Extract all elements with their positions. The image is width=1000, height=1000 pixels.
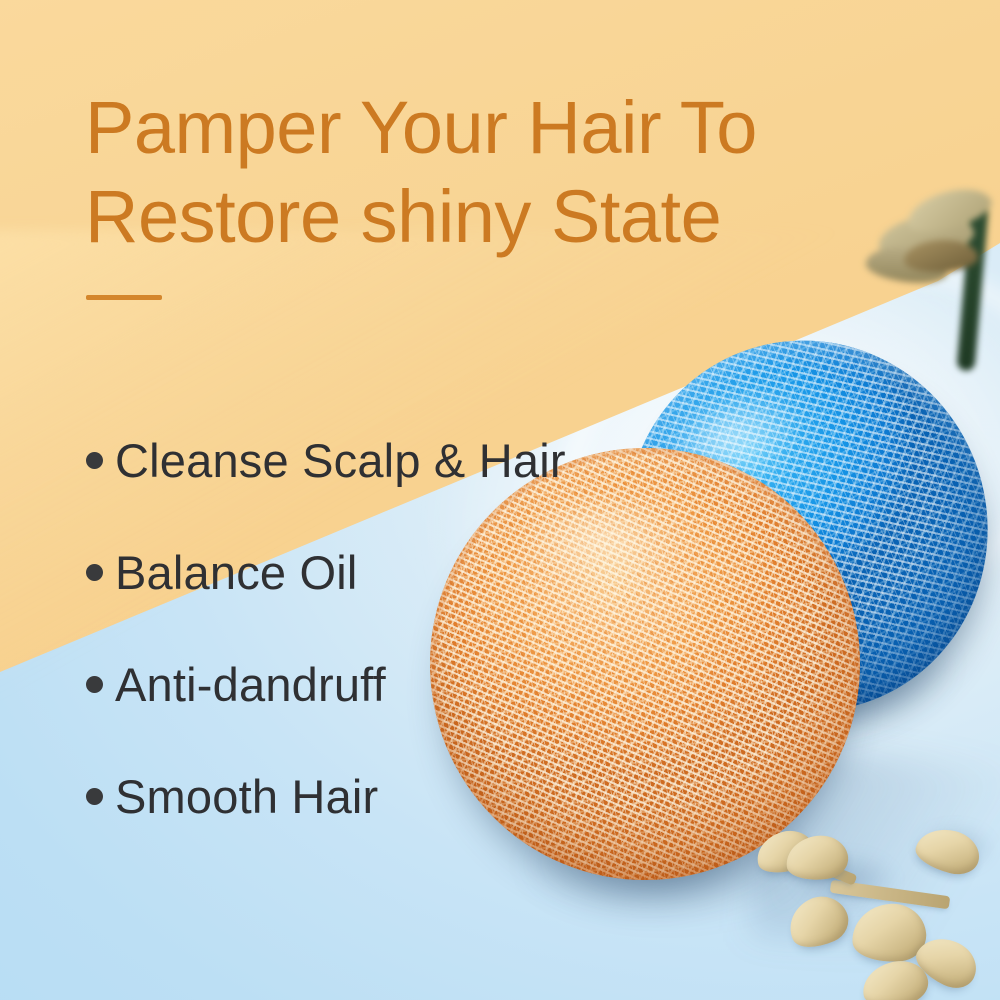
list-item: Cleanse Scalp & Hair (86, 404, 606, 516)
headline-line-1: Pamper Your Hair To (85, 84, 915, 173)
page-title: Pamper Your Hair To Restore shiny State (85, 84, 915, 262)
benefit-label: Balance Oil (115, 545, 358, 600)
benefit-label: Cleanse Scalp & Hair (115, 433, 566, 488)
benefit-label: Smooth Hair (115, 769, 378, 824)
bullet-dot-icon (86, 788, 103, 805)
list-item: Smooth Hair (86, 740, 606, 852)
headline-line-2: Restore shiny State (85, 173, 915, 262)
benefit-label: Anti-dandruff (115, 657, 386, 712)
bullet-dot-icon (86, 564, 103, 581)
list-item: Balance Oil (86, 516, 606, 628)
list-item: Anti-dandruff (86, 628, 606, 740)
bullet-dot-icon (86, 452, 103, 469)
bullet-dot-icon (86, 676, 103, 693)
benefit-list: Cleanse Scalp & Hair Balance Oil Anti-da… (86, 404, 606, 852)
accent-rule (86, 295, 162, 300)
product-graphic: Pamper Your Hair To Restore shiny State … (0, 0, 1000, 1000)
